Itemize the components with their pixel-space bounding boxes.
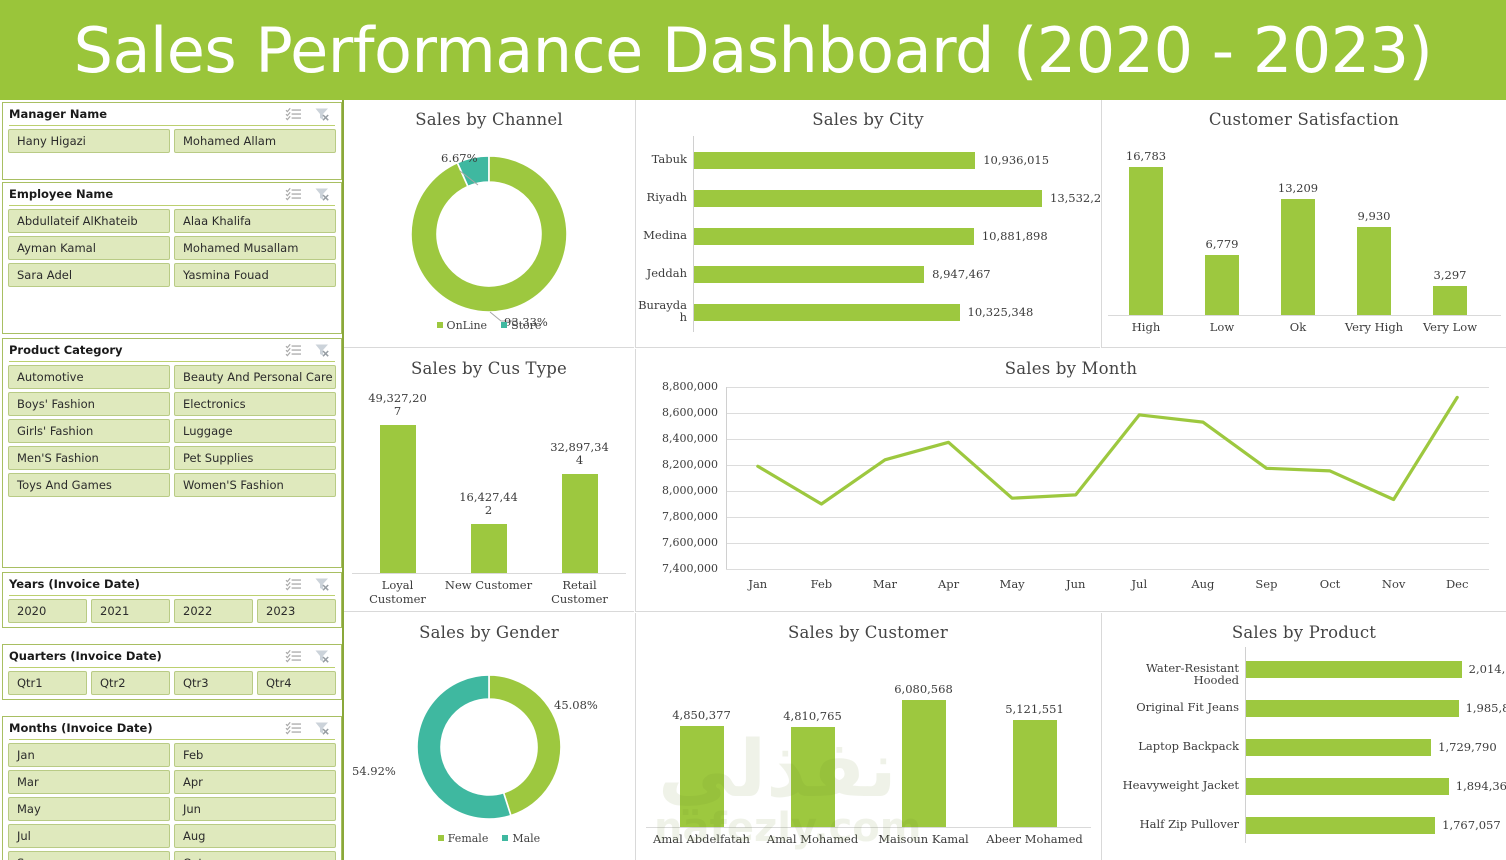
y-axis-tick-label: 8,000,000 — [642, 484, 718, 497]
legend-swatch — [437, 322, 443, 328]
slicer-divider — [9, 205, 335, 206]
slicer-items: AutomotiveBeauty And Personal CareBoys' … — [3, 365, 341, 502]
panel-sales-by-month: Sales by Month 8,800,0008,600,0008,400,0… — [635, 349, 1506, 612]
bar-value-label: 10,325,348 — [968, 305, 1034, 319]
panel-sales-by-gender: Sales by Gender 45.08%54.92%FemaleMale — [344, 613, 634, 860]
slicer-item[interactable]: Jan — [8, 743, 170, 767]
slicer-item[interactable]: 2021 — [91, 599, 170, 623]
bar-value-label: 8,947,467 — [932, 267, 991, 281]
slicer-item[interactable]: 2023 — [257, 599, 336, 623]
slicer-employee-name: Employee Name Abdullateif AlKhateibAlaa … — [2, 182, 342, 334]
column-chart-sales-by-customer: 4,850,377Amal Abdelfatah4,810,765Amal Mo… — [636, 639, 1100, 860]
slicer-divider — [9, 361, 335, 362]
slicer-item[interactable]: Abdullateif AlKhateib — [8, 209, 170, 233]
y-axis-tick-label: 8,600,000 — [642, 406, 718, 419]
category-axis-line — [1108, 315, 1501, 316]
slicer-title: Years (Invoice Date) — [9, 577, 285, 591]
slicer-item[interactable]: Men'S Fashion — [8, 446, 170, 470]
slicer-header: Manager Name — [3, 103, 341, 125]
slicer-item[interactable]: Mar — [8, 770, 170, 794]
column-bar — [562, 474, 598, 573]
slicer-items: Abdullateif AlKhateibAlaa KhalifaAyman K… — [3, 209, 341, 292]
slicer-icon-group — [285, 343, 337, 357]
column-value-label: 4,850,377 — [650, 709, 754, 722]
bar-row: Half Zip Pullover 1,767,057 — [1102, 817, 1506, 834]
slicer-divider — [9, 739, 335, 740]
slicer-items: Hany HigaziMohamed Allam — [3, 129, 341, 158]
line-chart-sales-by-month: 8,800,0008,600,0008,400,0008,200,0008,00… — [636, 377, 1506, 609]
bar-value-label: 10,936,015 — [983, 153, 1049, 167]
slicer-item[interactable]: Jul — [8, 824, 170, 848]
clear-filter-icon[interactable] — [314, 721, 331, 735]
legend-item: Female — [438, 832, 489, 845]
slicer-item[interactable]: Ayman Kamal — [8, 236, 170, 260]
column-value-label: 49,327,207 — [352, 392, 444, 418]
x-axis-tick-label: Apr — [917, 577, 981, 591]
legend-item: Store — [501, 319, 541, 332]
panel-customer-satisfaction: Customer Satisfaction 16,783High6,779Low… — [1101, 100, 1506, 348]
x-axis-tick-label: May — [980, 577, 1044, 591]
donut-value-label: 54.92% — [352, 764, 396, 778]
multi-select-icon[interactable] — [285, 343, 302, 357]
column-category-label: Amal Abdelfatah — [646, 832, 758, 846]
chart-title-sales-by-channel: Sales by Channel — [344, 100, 634, 129]
bar-fill — [1246, 817, 1435, 834]
x-axis-tick-label: Sep — [1235, 577, 1299, 591]
x-axis-tick-label: Feb — [790, 577, 854, 591]
gridline — [726, 465, 1489, 466]
x-axis-tick-label: Aug — [1171, 577, 1235, 591]
column-value-label: 5,121,551 — [983, 703, 1087, 716]
slicer-item[interactable]: Automotive — [8, 365, 170, 389]
column-category-label: Very Low — [1407, 320, 1493, 334]
column-bar — [1357, 227, 1391, 315]
bar-row: Medina 10,881,898 — [636, 228, 1100, 245]
slicer-divider — [9, 667, 335, 668]
bar-fill — [1246, 778, 1449, 795]
panel-sales-by-customer: Sales by Customer 4,850,377Amal Abdelfat… — [635, 613, 1100, 860]
column-value-label: 16,427,442 — [443, 491, 535, 517]
chart-legend: OnLineStore — [344, 319, 634, 332]
column-bar — [1013, 720, 1057, 827]
bar-value-label: 10,881,898 — [982, 229, 1048, 243]
bar-fill — [694, 304, 960, 321]
donut-chart-sales-by-channel: 6.67%93.33%OnLineStore — [344, 129, 634, 340]
slicer-title: Product Category — [9, 343, 285, 357]
bar-category-label: Original Fit Jeans — [1102, 701, 1239, 713]
clear-filter-icon[interactable] — [314, 343, 331, 357]
slicer-items: Qtr1Qtr2Qtr3Qtr4 — [3, 671, 341, 700]
chart-title-sales-by-gender: Sales by Gender — [344, 613, 634, 642]
slicer-divider — [9, 125, 335, 126]
gridline — [726, 439, 1489, 440]
legend-swatch — [438, 835, 444, 841]
column-category-label: Maisoun Kamal — [868, 832, 980, 846]
category-axis-line — [646, 827, 1091, 828]
dashboard-header: Sales Performance Dashboard (2020 - 2023… — [0, 0, 1506, 100]
clear-filter-icon[interactable] — [314, 187, 331, 201]
bar-chart-sales-by-city: Tabuk 10,936,015 Riyadh 13,532,286 Medin… — [636, 130, 1100, 344]
y-axis-tick-label: 8,800,000 — [642, 380, 718, 393]
chart-title-sales-by-city: Sales by City — [636, 100, 1100, 129]
page-title: Sales Performance Dashboard (2020 - 2023… — [74, 14, 1433, 87]
column-category-label: Abeer Mohamed — [979, 832, 1091, 846]
gridline — [726, 543, 1489, 544]
y-axis-tick-label: 7,400,000 — [642, 562, 718, 575]
bar-fill — [1246, 739, 1431, 756]
column-chart-customer-satisfaction: 16,783High6,779Low13,209Ok9,930Very High… — [1102, 130, 1506, 344]
column-bar — [471, 524, 507, 573]
slicer-header: Product Category — [3, 339, 341, 361]
x-axis-tick-label: Dec — [1425, 577, 1489, 591]
x-axis-tick-label: Jun — [1044, 577, 1108, 591]
bar-row: Buraydah 10,325,348 — [636, 304, 1100, 321]
slicer-item[interactable]: Girls' Fashion — [8, 419, 170, 443]
column-category-label: Very High — [1331, 320, 1417, 334]
slicer-item[interactable]: Beauty And Personal Care — [174, 365, 336, 389]
slicer-icon-group — [285, 577, 337, 591]
legend-item: OnLine — [437, 319, 488, 332]
column-category-label: Ok — [1255, 320, 1341, 334]
column-category-label: Loyal Customer — [352, 578, 444, 606]
bar-category-label: Tabuk — [636, 153, 687, 165]
slicer-item[interactable]: Feb — [174, 743, 336, 767]
slicer-item[interactable]: Women'S Fashion — [174, 473, 336, 497]
column-bar — [380, 425, 416, 573]
slicer-item[interactable]: 2020 — [8, 599, 87, 623]
multi-select-icon[interactable] — [285, 649, 302, 663]
column-bar — [1129, 167, 1163, 315]
slicer-quarters-invoice-date: Quarters (Invoice Date) Qtr1Qtr2Qtr3Qtr4 — [2, 644, 342, 700]
column-value-label: 32,897,344 — [534, 441, 626, 467]
bar-fill — [1246, 700, 1459, 717]
slicer-item[interactable]: Aug — [174, 824, 336, 848]
bar-row: Original Fit Jeans 1,985,893 — [1102, 700, 1506, 717]
slicer-item[interactable]: Sep — [8, 851, 170, 860]
bar-category-label: Half Zip Pullover — [1102, 818, 1239, 830]
donut-slice-store — [411, 156, 567, 312]
y-axis-tick-label: 8,200,000 — [642, 458, 718, 471]
column-value-label: 13,209 — [1255, 182, 1341, 195]
panel-sales-by-product: Sales by Product Water-Resistant Hooded … — [1101, 613, 1506, 860]
bar-row: Heavyweight Jacket 1,894,368 — [1102, 778, 1506, 795]
bar-category-label: Riyadh — [636, 191, 687, 203]
slicer-header: Months (Invoice Date) — [3, 717, 341, 739]
column-category-label: Amal Mohamed — [757, 832, 869, 846]
panel-sales-by-cus-type: Sales by Cus Type 49,327,207Loyal Custom… — [344, 349, 634, 612]
category-axis-line — [352, 573, 626, 574]
slicer-icon-group — [285, 107, 337, 121]
y-axis-tick-label: 7,800,000 — [642, 510, 718, 523]
slicer-item[interactable]: Sara Adel — [8, 263, 170, 287]
donut-chart-sales-by-gender: 45.08%54.92%FemaleMale — [344, 642, 634, 853]
x-axis-tick-label: Mar — [853, 577, 917, 591]
slicer-header: Quarters (Invoice Date) — [3, 645, 341, 667]
slicer-item[interactable]: Luggage — [174, 419, 336, 443]
donut-value-label: 45.08% — [554, 698, 598, 712]
chart-title-sales-by-cus-type: Sales by Cus Type — [344, 349, 634, 378]
slicer-header: Years (Invoice Date) — [3, 573, 341, 595]
slicer-icon-group — [285, 721, 337, 735]
column-bar — [902, 700, 946, 827]
slicer-item[interactable]: Qtr4 — [257, 671, 336, 695]
chart-title-sales-by-month: Sales by Month — [636, 349, 1506, 378]
x-axis-tick-label: Jul — [1108, 577, 1172, 591]
slicer-item[interactable]: Hany Higazi — [8, 129, 170, 153]
slicer-divider — [9, 595, 335, 596]
slicer-title: Employee Name — [9, 187, 285, 201]
slicer-items: 2020202120222023 — [3, 599, 341, 628]
column-bar — [680, 726, 724, 827]
slicer-item[interactable]: Qtr2 — [91, 671, 170, 695]
slicer-title: Quarters (Invoice Date) — [9, 649, 285, 663]
column-category-label: New Customer — [443, 578, 535, 592]
bar-value-label: 1,767,057 — [1442, 818, 1501, 832]
bar-chart-sales-by-product: Water-Resistant Hooded 2,014,981 Origina… — [1102, 643, 1506, 858]
slicer-item[interactable]: May — [8, 797, 170, 821]
y-axis-line — [726, 387, 727, 569]
column-chart-sales-by-cus-type: 49,327,207Loyal Customer16,427,442New Cu… — [344, 377, 634, 609]
slicer-item[interactable]: Yasmina Fouad — [174, 263, 336, 287]
bar-row: Tabuk 10,936,015 — [636, 152, 1100, 169]
y-axis-tick-label: 8,400,000 — [642, 432, 718, 445]
slicer-item[interactable]: Qtr3 — [174, 671, 253, 695]
bar-category-label: Heavyweight Jacket — [1102, 779, 1239, 791]
slicer-months-invoice-date: Months (Invoice Date) JanFebMarAprMayJun… — [2, 716, 342, 860]
column-bar — [1433, 286, 1467, 315]
bar-row: Laptop Backpack 1,729,790 — [1102, 739, 1506, 756]
clear-filter-icon[interactable] — [314, 107, 331, 121]
slicer-product-category: Product Category AutomotiveBeauty And Pe… — [2, 338, 342, 568]
slicer-item[interactable]: Mohamed Allam — [174, 129, 336, 153]
slicer-item[interactable]: Oct — [174, 851, 336, 860]
column-category-label: High — [1103, 320, 1189, 334]
column-value-label: 16,783 — [1103, 150, 1189, 163]
chart-legend: FemaleMale — [344, 832, 634, 845]
slicer-item[interactable]: Jun — [174, 797, 336, 821]
bar-fill — [694, 266, 924, 283]
column-value-label: 4,810,765 — [761, 710, 865, 723]
panel-sales-by-channel: Sales by Channel 6.67%93.33%OnLineStore — [344, 100, 634, 348]
x-axis-tick-label: Nov — [1362, 577, 1426, 591]
slicer-title: Manager Name — [9, 107, 285, 121]
dashboard-grid: Sales by Channel 6.67%93.33%OnLineStore … — [344, 100, 1506, 860]
slicer-manager-name: Manager Name Hany HigaziMohamed Allam — [2, 102, 342, 180]
bar-value-label: 13,532,286 — [1050, 191, 1100, 205]
column-bar — [791, 727, 835, 827]
bar-row: Riyadh 13,532,286 — [636, 190, 1100, 207]
bar-fill — [1246, 661, 1462, 678]
column-value-label: 3,297 — [1407, 269, 1493, 282]
bar-category-label: Medina — [636, 229, 687, 241]
bar-fill — [694, 152, 975, 169]
column-value-label: 9,930 — [1331, 210, 1417, 223]
chart-title-sales-by-customer: Sales by Customer — [636, 613, 1100, 642]
donut-value-label: 6.67% — [441, 151, 478, 165]
bar-row: Water-Resistant Hooded 2,014,981 — [1102, 661, 1506, 678]
multi-select-icon[interactable] — [285, 721, 302, 735]
x-axis-tick-label: Jan — [726, 577, 790, 591]
slicer-years-invoice-date: Years (Invoice Date) 2020202120222023 — [2, 572, 342, 628]
legend-swatch — [502, 835, 508, 841]
multi-select-icon[interactable] — [285, 577, 302, 591]
slicer-item[interactable]: Toys And Games — [8, 473, 170, 497]
slicer-item[interactable]: Mohamed Musallam — [174, 236, 336, 260]
bar-value-label: 2,014,981 — [1469, 662, 1506, 676]
gridline — [726, 491, 1489, 492]
bar-fill — [694, 190, 1042, 207]
slicer-icon-group — [285, 187, 337, 201]
column-category-label: Retail Customer — [534, 578, 626, 606]
gridline — [726, 387, 1489, 388]
y-axis-tick-label: 7,600,000 — [642, 536, 718, 549]
bar-category-label: Water-Resistant Hooded — [1102, 662, 1239, 686]
bar-category-label: Buraydah — [636, 299, 687, 323]
gridline — [726, 569, 1489, 570]
bar-row: Jeddah 8,947,467 — [636, 266, 1100, 283]
slicer-icon-group — [285, 649, 337, 663]
column-bar — [1205, 255, 1239, 315]
slicer-item[interactable]: Electronics — [174, 392, 336, 416]
legend-swatch — [501, 322, 507, 328]
column-category-label: Low — [1179, 320, 1265, 334]
slicer-item[interactable]: Pet Supplies — [174, 446, 336, 470]
clear-filter-icon[interactable] — [314, 577, 331, 591]
gridline — [726, 517, 1489, 518]
x-axis-tick-label: Oct — [1298, 577, 1362, 591]
multi-select-icon[interactable] — [285, 107, 302, 121]
chart-title-customer-satisfaction: Customer Satisfaction — [1102, 100, 1506, 129]
bar-value-label: 1,894,368 — [1456, 779, 1506, 793]
bar-category-label: Jeddah — [636, 267, 687, 279]
column-value-label: 6,779 — [1179, 238, 1265, 251]
slicer-header: Employee Name — [3, 183, 341, 205]
slicer-item[interactable]: 2022 — [174, 599, 253, 623]
bar-fill — [694, 228, 974, 245]
legend-item: Male — [502, 832, 540, 845]
slicer-sidebar: Manager Name Hany HigaziMohamed AllamEmp… — [0, 100, 344, 860]
gridline — [726, 413, 1489, 414]
slicer-items: JanFebMarAprMayJunJulAugSepOctNovDec — [3, 743, 341, 860]
slicer-item[interactable]: Boys' Fashion — [8, 392, 170, 416]
bar-value-label: 1,985,893 — [1466, 701, 1506, 715]
clear-filter-icon[interactable] — [314, 649, 331, 663]
slicer-item[interactable]: Qtr1 — [8, 671, 87, 695]
multi-select-icon[interactable] — [285, 187, 302, 201]
slicer-title: Months (Invoice Date) — [9, 721, 285, 735]
slicer-item[interactable]: Alaa Khalifa — [174, 209, 336, 233]
bar-value-label: 1,729,790 — [1438, 740, 1497, 754]
slicer-item[interactable]: Apr — [174, 770, 336, 794]
bar-category-label: Laptop Backpack — [1102, 740, 1239, 752]
chart-title-sales-by-product: Sales by Product — [1102, 613, 1506, 642]
column-bar — [1281, 199, 1315, 315]
panel-sales-by-city: Sales by City Tabuk 10,936,015 Riyadh 13… — [635, 100, 1100, 348]
column-value-label: 6,080,568 — [872, 683, 976, 696]
